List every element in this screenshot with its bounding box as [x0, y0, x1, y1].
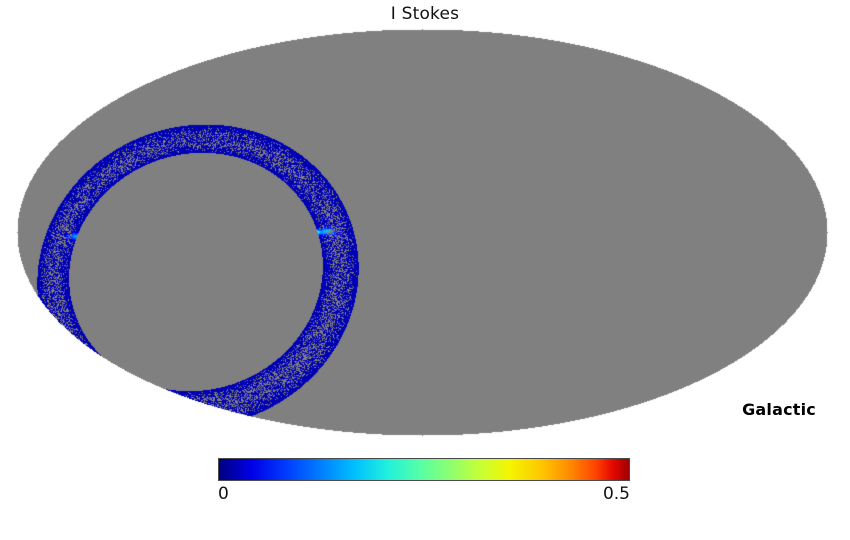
page-title: I Stokes: [0, 4, 850, 24]
colorbar[interactable]: 0 0.5: [218, 458, 630, 481]
sky-map-figure: I Stokes Galactic 0 0.5: [0, 0, 850, 540]
mollweide-map: [0, 28, 850, 440]
colorbar-min-tick: 0: [218, 484, 229, 504]
colorbar-max-tick: 0.5: [603, 484, 630, 504]
sky-map-canvas: [0, 28, 850, 440]
colorbar-gradient: [218, 458, 630, 481]
coordinate-system-label: Galactic: [742, 400, 816, 419]
